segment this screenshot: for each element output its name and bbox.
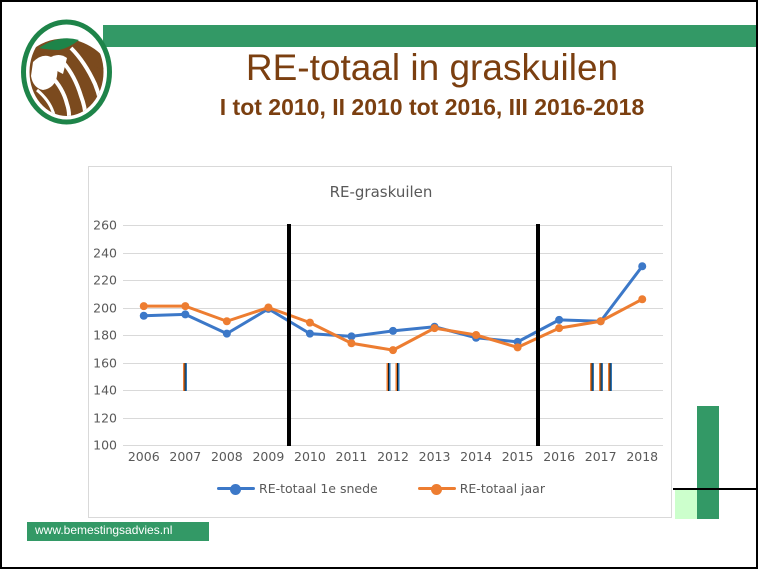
gridline: [123, 445, 663, 446]
y-axis-tick-label: 200: [93, 300, 117, 315]
data-point: [140, 312, 148, 320]
y-axis-tick-label: 220: [93, 273, 117, 288]
decoration-light-bar: [675, 489, 697, 519]
data-point: [223, 317, 231, 325]
x-axis-tick-label: 2015: [502, 449, 534, 464]
x-axis-tick-label: 2018: [626, 449, 658, 464]
page-title: RE-totaal in graskuilen: [122, 46, 742, 90]
data-point: [389, 346, 397, 354]
y-axis-tick-label: 180: [93, 328, 117, 343]
period-marker-stroke: [183, 363, 187, 391]
logo-svg: [19, 18, 114, 126]
series-lines: [123, 225, 663, 445]
data-point: [638, 262, 646, 270]
title-block: RE-totaal in graskuilen I tot 2010, II 2…: [122, 46, 742, 122]
period-marker-stroke: [608, 363, 612, 391]
data-point: [306, 330, 314, 338]
x-axis-tick-label: 2016: [543, 449, 575, 464]
data-point: [140, 302, 148, 310]
x-axis-tick-label: 2014: [460, 449, 492, 464]
x-axis-tick-label: 2008: [211, 449, 243, 464]
divider-2009-2010: [287, 224, 291, 446]
data-point: [638, 295, 646, 303]
y-axis-tick-label: 240: [93, 245, 117, 260]
legend-swatch-icon: [217, 483, 255, 495]
period-marker-stroke: [387, 363, 391, 391]
data-point: [472, 331, 480, 339]
decoration-dark-bar: [697, 406, 719, 519]
data-point: [431, 324, 439, 332]
period-marker-stroke: [590, 363, 594, 391]
data-point: [347, 339, 355, 347]
y-axis-tick-label: 260: [93, 218, 117, 233]
chart-legend: RE-totaal 1e snedeRE-totaal jaar: [89, 481, 673, 496]
period-marker-stroke: [599, 363, 603, 391]
series-line: [144, 299, 642, 350]
x-axis-tick-label: 2012: [377, 449, 409, 464]
decoration-rule: [673, 488, 758, 490]
y-axis-tick-label: 160: [93, 355, 117, 370]
data-point: [347, 332, 355, 340]
data-point: [555, 316, 563, 324]
period-marker-iii: [590, 363, 612, 391]
x-axis-tick-label: 2007: [169, 449, 201, 464]
y-axis-tick-label: 100: [93, 438, 117, 453]
x-axis-tick-label: 2017: [585, 449, 617, 464]
chart-plot-area: 260240220200180160140120100 200620072008…: [123, 225, 663, 445]
chart-card: RE-graskuilen 26024022020018016014012010…: [88, 166, 672, 518]
chart-title: RE-graskuilen: [89, 183, 673, 201]
legend-item[interactable]: RE-totaal jaar: [418, 481, 545, 496]
x-axis-tick-label: 2011: [336, 449, 368, 464]
x-axis-tick-label: 2010: [294, 449, 326, 464]
y-axis-tick-label: 140: [93, 383, 117, 398]
period-marker-i: [183, 363, 187, 391]
legend-item[interactable]: RE-totaal 1e snede: [217, 481, 378, 496]
data-point: [264, 304, 272, 312]
footer-website-label: www.bemestingsadvies.nl: [35, 523, 172, 537]
data-point: [389, 327, 397, 335]
data-point: [306, 319, 314, 327]
page-subtitle: I tot 2010, II 2010 tot 2016, III 2016-2…: [122, 92, 742, 122]
y-axis-tick-label: 120: [93, 410, 117, 425]
period-marker-stroke: [396, 363, 400, 391]
data-point: [514, 343, 522, 351]
x-axis-tick-label: 2006: [128, 449, 160, 464]
data-point: [223, 330, 231, 338]
divider-2015-2016: [536, 224, 540, 446]
period-marker-ii: [387, 363, 400, 391]
data-point: [181, 310, 189, 318]
slide-canvas: RE-totaal in graskuilen I tot 2010, II 2…: [0, 0, 758, 569]
legend-swatch-icon: [418, 483, 456, 495]
x-axis-tick-label: 2013: [419, 449, 451, 464]
bemestingsadvies-logo: [19, 18, 114, 126]
data-point: [181, 302, 189, 310]
x-axis-tick-label: 2009: [252, 449, 284, 464]
legend-label: RE-totaal 1e snede: [259, 481, 378, 496]
header-band: [103, 25, 758, 47]
data-point: [555, 324, 563, 332]
data-point: [597, 317, 605, 325]
legend-label: RE-totaal jaar: [460, 481, 545, 496]
